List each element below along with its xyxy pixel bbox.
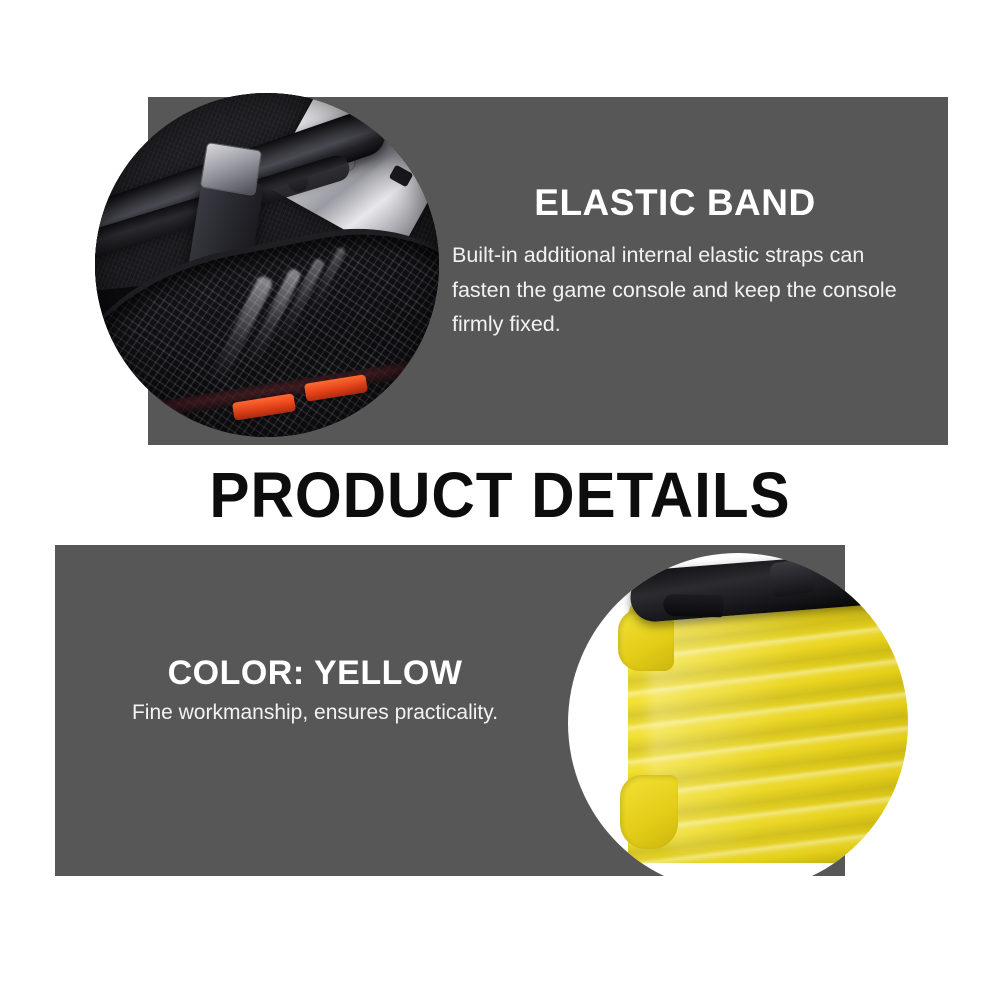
feature-heading-color-yellow: COLOR: YELLOW	[95, 655, 535, 692]
handle-clip-icon	[769, 558, 814, 598]
feature-heading-elastic-band: ELASTIC BAND	[452, 183, 922, 224]
shell-corner-notch-bottom	[620, 775, 678, 849]
feature-body-color-yellow: Fine workmanship, ensures practicality.	[95, 698, 535, 727]
feature-body-elastic-band: Built-in additional internal elastic str…	[452, 238, 922, 342]
product-details-infographic: ELASTIC BAND Built-in additional interna…	[0, 0, 1000, 1000]
page-title: PRODUCT DETAILS	[30, 458, 970, 532]
feature-text-color-yellow: COLOR: YELLOW Fine workmanship, ensures …	[95, 655, 535, 728]
feature-text-elastic-band: ELASTIC BAND Built-in additional interna…	[452, 183, 922, 342]
photo-elastic-band	[95, 93, 439, 437]
usb-c-connector-tip	[200, 142, 263, 196]
handle-hook-icon	[663, 594, 724, 618]
photo-yellow-case	[568, 553, 908, 893]
device-port-icon	[389, 164, 414, 187]
